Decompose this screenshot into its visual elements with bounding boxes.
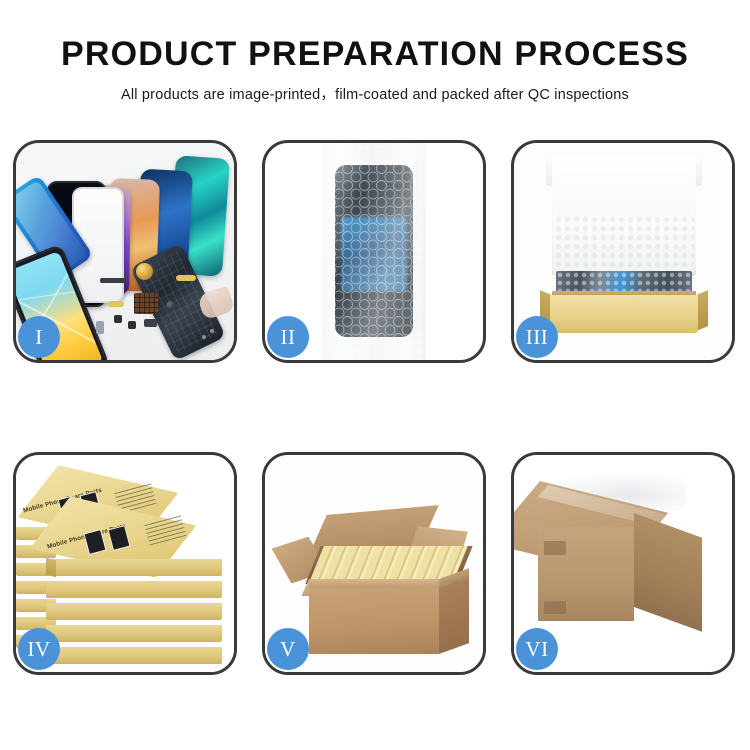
- carton-seam-bottom-icon: [544, 601, 566, 614]
- part-screw-icon: [202, 335, 206, 339]
- part-speaker-icon: [144, 319, 157, 327]
- stacked-box-side-1: [46, 558, 56, 577]
- step-badge-3: III: [516, 316, 558, 358]
- step-badge-2: II: [267, 316, 309, 358]
- part-chip-icon: [114, 315, 122, 323]
- process-step-panel-3[interactable]: III: [511, 140, 735, 363]
- part-small-icon: [162, 319, 167, 324]
- page-header: PRODUCT PREPARATION PROCESS All products…: [0, 0, 750, 104]
- process-step-panel-5[interactable]: V: [262, 452, 486, 675]
- part-small-2-icon: [172, 325, 177, 330]
- step-badge-4: IV: [18, 628, 60, 670]
- stacked-box-front-4: [46, 625, 222, 642]
- foam-lining-icon: [554, 215, 694, 279]
- stacked-box-front-1: [46, 559, 222, 576]
- part-flex-cable-2-icon: [108, 301, 124, 307]
- step-badge-6: VI: [516, 628, 558, 670]
- part-flex-cable-icon: [176, 275, 196, 281]
- page-title: PRODUCT PREPARATION PROCESS: [0, 36, 750, 73]
- part-strip-icon: [100, 278, 126, 283]
- process-step-panel-1[interactable]: I: [13, 140, 237, 363]
- stacked-box-front-5: [46, 647, 222, 664]
- plastic-sheen-icon: [322, 143, 426, 360]
- part-coil-icon: [136, 263, 153, 280]
- carton-front-face-icon: [309, 588, 439, 654]
- part-camera-icon: [166, 301, 175, 310]
- carton-side-face-icon: [439, 577, 469, 654]
- stacked-box-front-3: [46, 603, 222, 620]
- page-subtitle: All products are image-printed，film-coat…: [0, 83, 750, 104]
- process-step-panel-4[interactable]: Mobile Phone Spare Parts Mobile Phone Sp…: [13, 452, 237, 675]
- process-steps-grid: I II III: [13, 140, 735, 675]
- box-front-face-icon: [550, 295, 698, 333]
- part-screw-2-icon: [210, 329, 214, 333]
- carton-seam-top-icon: [544, 541, 566, 555]
- process-step-panel-6[interactable]: VI: [511, 452, 735, 675]
- stacked-box-front-2: [46, 581, 222, 598]
- step-badge-5: V: [267, 628, 309, 670]
- part-logic-board-icon: [134, 293, 158, 314]
- carton-contents-icon: [310, 546, 468, 580]
- step-badge-1: I: [18, 316, 60, 358]
- carton-rim-front-icon: [309, 579, 439, 588]
- process-step-panel-2[interactable]: II: [262, 140, 486, 363]
- part-sim-tray-icon: [96, 321, 104, 334]
- part-chip-2-icon: [128, 321, 136, 329]
